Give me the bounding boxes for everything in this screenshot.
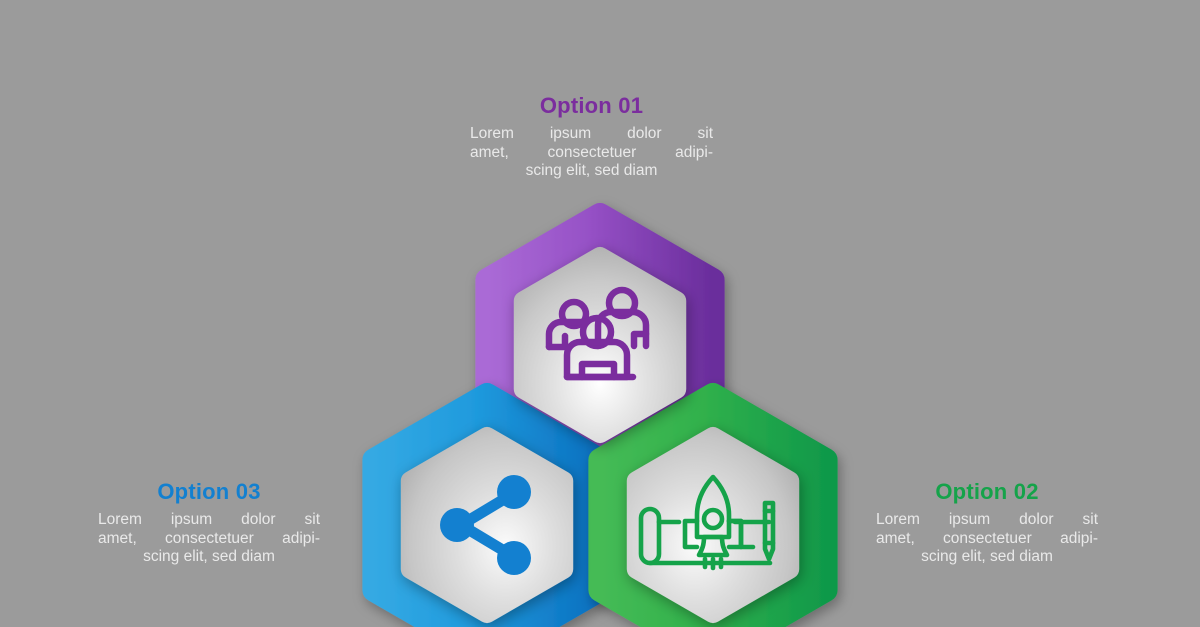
option-03-line-1: Lorem ipsum dolor sit bbox=[98, 511, 320, 530]
callout-option-03: Option 03 Lorem ipsum dolor sit amet, co… bbox=[98, 480, 320, 567]
option-01-title: Option 01 bbox=[470, 94, 713, 118]
infographic-canvas: Option 01 Lorem ipsum dolor sit amet, co… bbox=[0, 0, 1200, 627]
option-03-line-2: amet, consectetuer adipi- bbox=[98, 530, 320, 549]
callout-option-02: Option 02 Lorem ipsum dolor sit amet, co… bbox=[876, 480, 1098, 567]
option-02-description: Lorem ipsum dolor sit amet, consectetuer… bbox=[876, 511, 1098, 567]
option-02-line-1: Lorem ipsum dolor sit bbox=[876, 511, 1098, 530]
option-02-line-3: scing elit, sed diam bbox=[876, 548, 1098, 567]
option-01-line-3: scing elit, sed diam bbox=[470, 162, 713, 181]
option-01-line-2: amet, consectetuer adipi- bbox=[470, 144, 713, 163]
option-03-title: Option 03 bbox=[98, 480, 320, 504]
option-01-description: Lorem ipsum dolor sit amet, consectetuer… bbox=[470, 125, 713, 181]
option-02-title: Option 02 bbox=[876, 480, 1098, 504]
option-03-description: Lorem ipsum dolor sit amet, consectetuer… bbox=[98, 511, 320, 567]
option-02-line-2: amet, consectetuer adipi- bbox=[876, 530, 1098, 549]
option-03-line-3: scing elit, sed diam bbox=[98, 548, 320, 567]
option-01-line-1: Lorem ipsum dolor sit bbox=[470, 125, 713, 144]
callout-option-01: Option 01 Lorem ipsum dolor sit amet, co… bbox=[470, 94, 713, 181]
